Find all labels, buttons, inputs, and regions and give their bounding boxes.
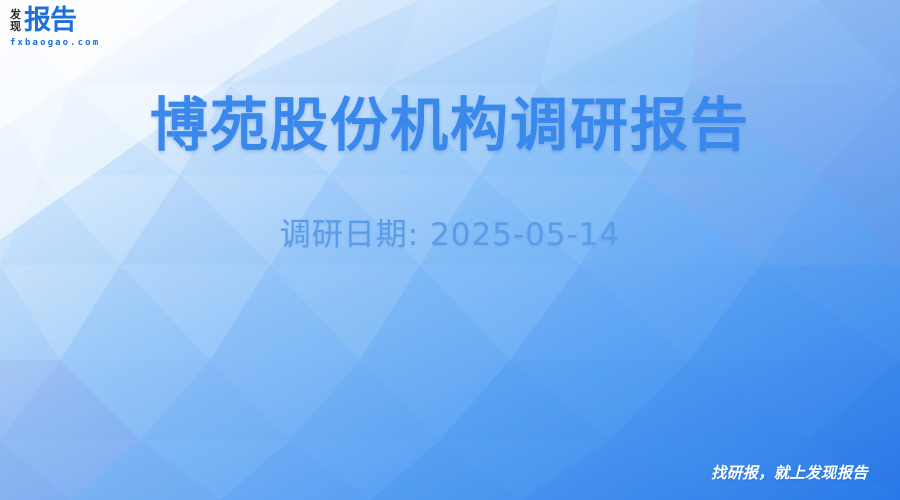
logo-stacked-chars: 发 现 xyxy=(10,7,21,33)
logo-wordmark: 报告 xyxy=(24,7,76,35)
footer-tagline: 找研报，就上发现报告 xyxy=(711,464,868,483)
logo-char-xian: 现 xyxy=(10,21,21,33)
report-cover: 发 现 报告 fxbaogao.com 博苑股份机构调研报告 调研日期: 202… xyxy=(0,0,900,500)
site-logo[interactable]: 发 现 报告 fxbaogao.com xyxy=(10,7,130,53)
logo-domain-text: fxbaogao.com xyxy=(10,38,130,48)
polygon-background xyxy=(0,0,900,500)
logo-wordmark-row: 发 现 报告 xyxy=(10,7,130,37)
